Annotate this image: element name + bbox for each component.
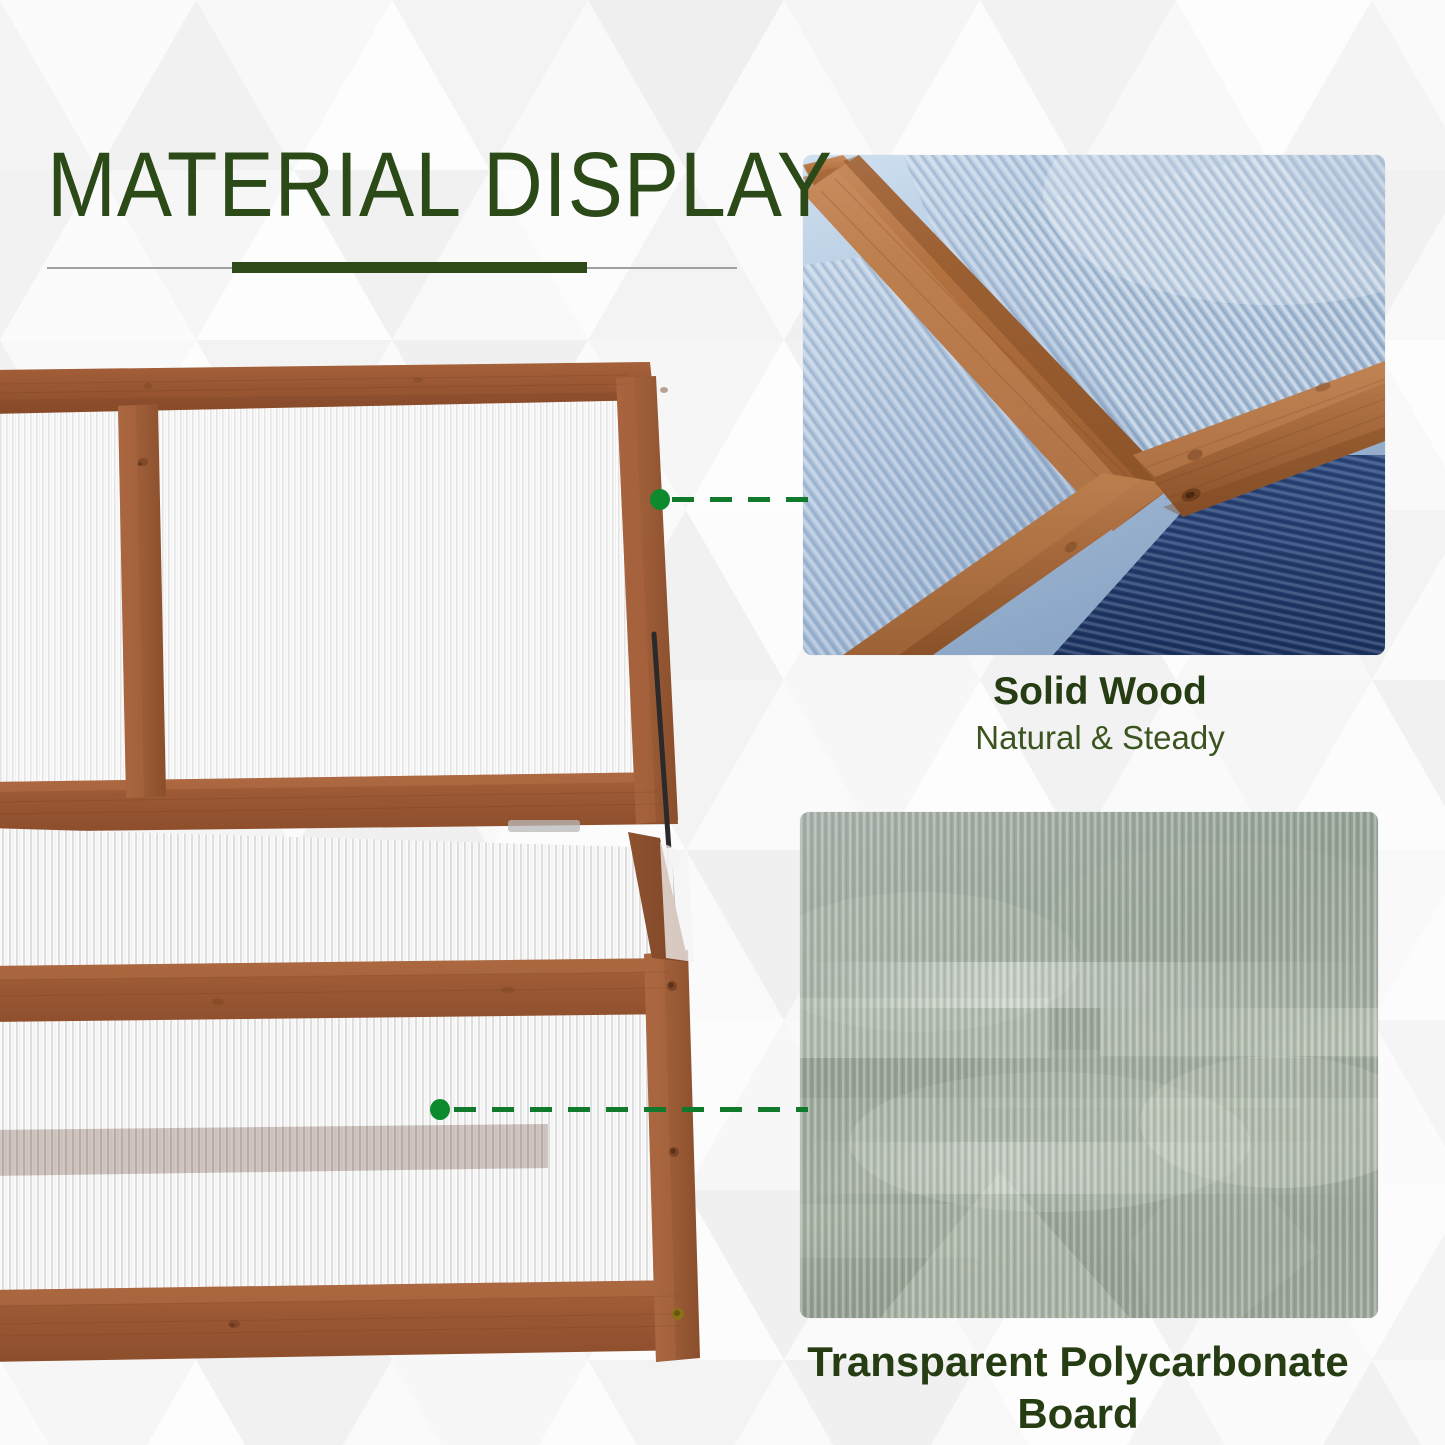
page-title: MATERIAL DISPLAY [47, 139, 833, 231]
detail-photo-polycarbonate-board [800, 812, 1378, 1318]
caption-solid-wood: Solid Wood Natural & Steady [780, 668, 1420, 760]
callout-connector-solid-wood [650, 489, 810, 509]
hero-product-photo [0, 362, 740, 1362]
caption-subheading: Natural & Steady [780, 716, 1420, 760]
caption-polycarbonate-board: Transparent Polycarbonate Board Stable &… [758, 1336, 1398, 1445]
title-rule-accent-bar [232, 262, 587, 273]
caption-heading: Transparent Polycarbonate Board [758, 1336, 1398, 1440]
detail-photo-solid-wood [803, 155, 1385, 655]
callout-connector-polycarbonate [430, 1099, 808, 1119]
infographic-canvas: MATERIAL DISPLAY [0, 0, 1445, 1445]
caption-subheading: Stable & Durable [758, 1440, 1398, 1445]
title-underline-rule [47, 266, 737, 269]
caption-heading: Solid Wood [780, 668, 1420, 716]
dashed-leader-line [672, 497, 810, 502]
green-dot-icon [430, 1099, 450, 1120]
dashed-leader-line [454, 1107, 808, 1112]
green-dot-icon [650, 489, 670, 510]
